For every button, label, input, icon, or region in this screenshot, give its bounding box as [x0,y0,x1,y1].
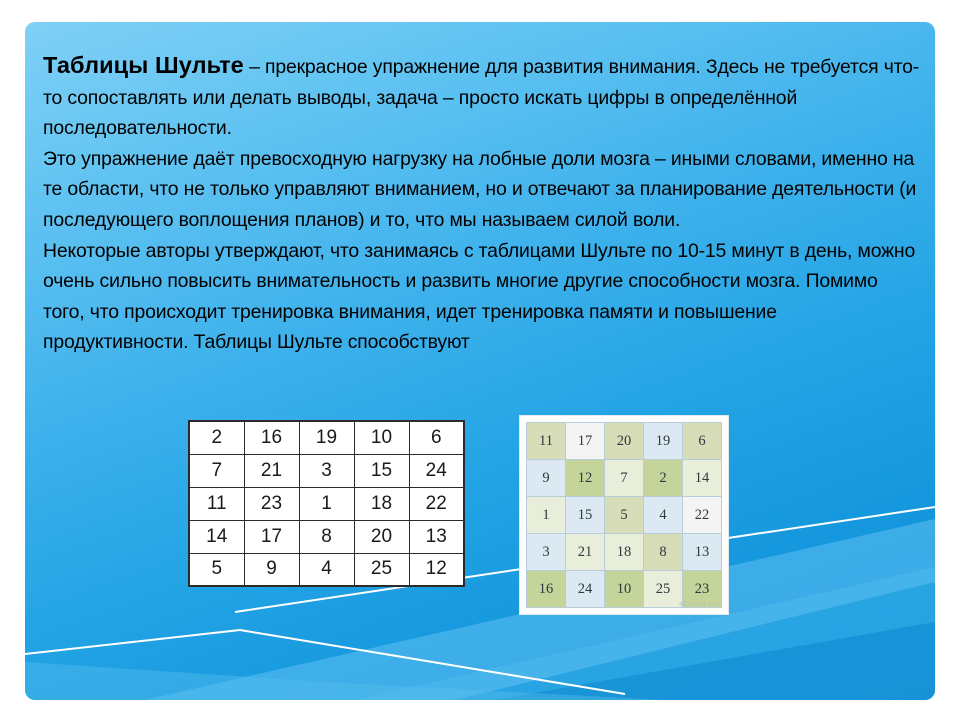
table-row: 5942512 [189,553,464,586]
schulte-cell-colored[interactable]: 23 [683,571,722,608]
schulte-cell-plain[interactable]: 13 [409,520,464,553]
schulte-cell-colored[interactable]: 15 [566,497,605,534]
schulte-cell-colored[interactable]: 21 [566,534,605,571]
schulte-cell-colored[interactable]: 24 [566,571,605,608]
schulte-cell-plain[interactable]: 12 [409,553,464,586]
schulte-cell-plain[interactable]: 22 [409,487,464,520]
schulte-cell-plain[interactable]: 20 [354,520,409,553]
table-row: 1155422 [527,497,722,534]
table-row: 112311822 [189,487,464,520]
schulte-cell-plain[interactable]: 7 [189,454,244,487]
schulte-cell-colored[interactable]: 16 [527,571,566,608]
schulte-cell-plain[interactable]: 10 [354,421,409,454]
page-title: Таблицы Шульте [43,52,244,78]
schulte-cell-plain[interactable]: 15 [354,454,409,487]
schulte-cell-colored[interactable]: 20 [605,423,644,460]
schulte-cell-plain[interactable]: 2 [189,421,244,454]
schulte-cell-colored[interactable]: 19 [644,423,683,460]
schulte-cell-plain[interactable]: 17 [244,520,299,553]
schulte-cell-colored[interactable]: 12 [566,460,605,497]
schulte-cell-plain[interactable]: 23 [244,487,299,520]
slide-text-block: Таблицы Шульте – прекрасное упражнение д… [43,50,923,358]
schulte-table-plain: 2161910672131524112311822141782013594251… [188,420,465,587]
paragraph-intro: Таблицы Шульте – прекрасное упражнение д… [43,50,923,144]
schulte-cell-colored[interactable]: 11 [527,423,566,460]
table-row: 21619106 [189,421,464,454]
paragraph-brain-load: Это упражнение даёт превосходную нагрузк… [43,144,923,236]
schulte-cell-colored[interactable]: 7 [605,460,644,497]
schulte-cell-plain[interactable]: 24 [409,454,464,487]
table-row: 32118813 [527,534,722,571]
schulte-cell-colored[interactable]: 22 [683,497,722,534]
schulte-cell-plain[interactable]: 1 [299,487,354,520]
schulte-cell-plain[interactable]: 14 [189,520,244,553]
schulte-cell-colored[interactable]: 5 [605,497,644,534]
schulte-cell-plain[interactable]: 11 [189,487,244,520]
schulte-cell-plain[interactable]: 6 [409,421,464,454]
schulte-cell-plain[interactable]: 4 [299,553,354,586]
table-row: 141782013 [189,520,464,553]
table-row: 1624102523 [527,571,722,608]
schulte-cell-plain[interactable]: 19 [299,421,354,454]
schulte-table-colored-body: 1117201969127214115542232118813162410252… [527,423,722,608]
schulte-table-colored: 1117201969127214115542232118813162410252… [526,422,722,608]
schulte-cell-plain[interactable]: 16 [244,421,299,454]
schulte-cell-plain[interactable]: 3 [299,454,354,487]
schulte-cell-colored[interactable]: 2 [644,460,683,497]
schulte-cell-plain[interactable]: 8 [299,520,354,553]
schulte-cell-plain[interactable]: 18 [354,487,409,520]
schulte-cell-colored[interactable]: 13 [683,534,722,571]
schulte-cell-colored[interactable]: 17 [566,423,605,460]
table-row: 72131524 [189,454,464,487]
schulte-table-plain-body: 2161910672131524112311822141782013594251… [189,421,464,586]
schulte-table-colored-container: 1117201969127214115542232118813162410252… [519,415,729,615]
slide-frame: Таблицы Шульте – прекрасное упражнение д… [25,22,935,700]
schulte-cell-colored[interactable]: 25 [644,571,683,608]
paragraph-authors-claim: Некоторые авторы утверждают, что занимая… [43,236,923,358]
schulte-cell-colored[interactable]: 3 [527,534,566,571]
schulte-cell-colored[interactable]: 8 [644,534,683,571]
schulte-cell-colored[interactable]: 9 [527,460,566,497]
schulte-cell-plain[interactable]: 5 [189,553,244,586]
table-row: 111720196 [527,423,722,460]
schulte-cell-colored[interactable]: 10 [605,571,644,608]
table-row: 9127214 [527,460,722,497]
schulte-cell-colored[interactable]: 14 [683,460,722,497]
schulte-cell-colored[interactable]: 18 [605,534,644,571]
schulte-cell-colored[interactable]: 6 [683,423,722,460]
schulte-cell-plain[interactable]: 21 [244,454,299,487]
schulte-cell-colored[interactable]: 4 [644,497,683,534]
schulte-cell-colored[interactable]: 1 [527,497,566,534]
schulte-cell-plain[interactable]: 9 [244,553,299,586]
schulte-cell-plain[interactable]: 25 [354,553,409,586]
